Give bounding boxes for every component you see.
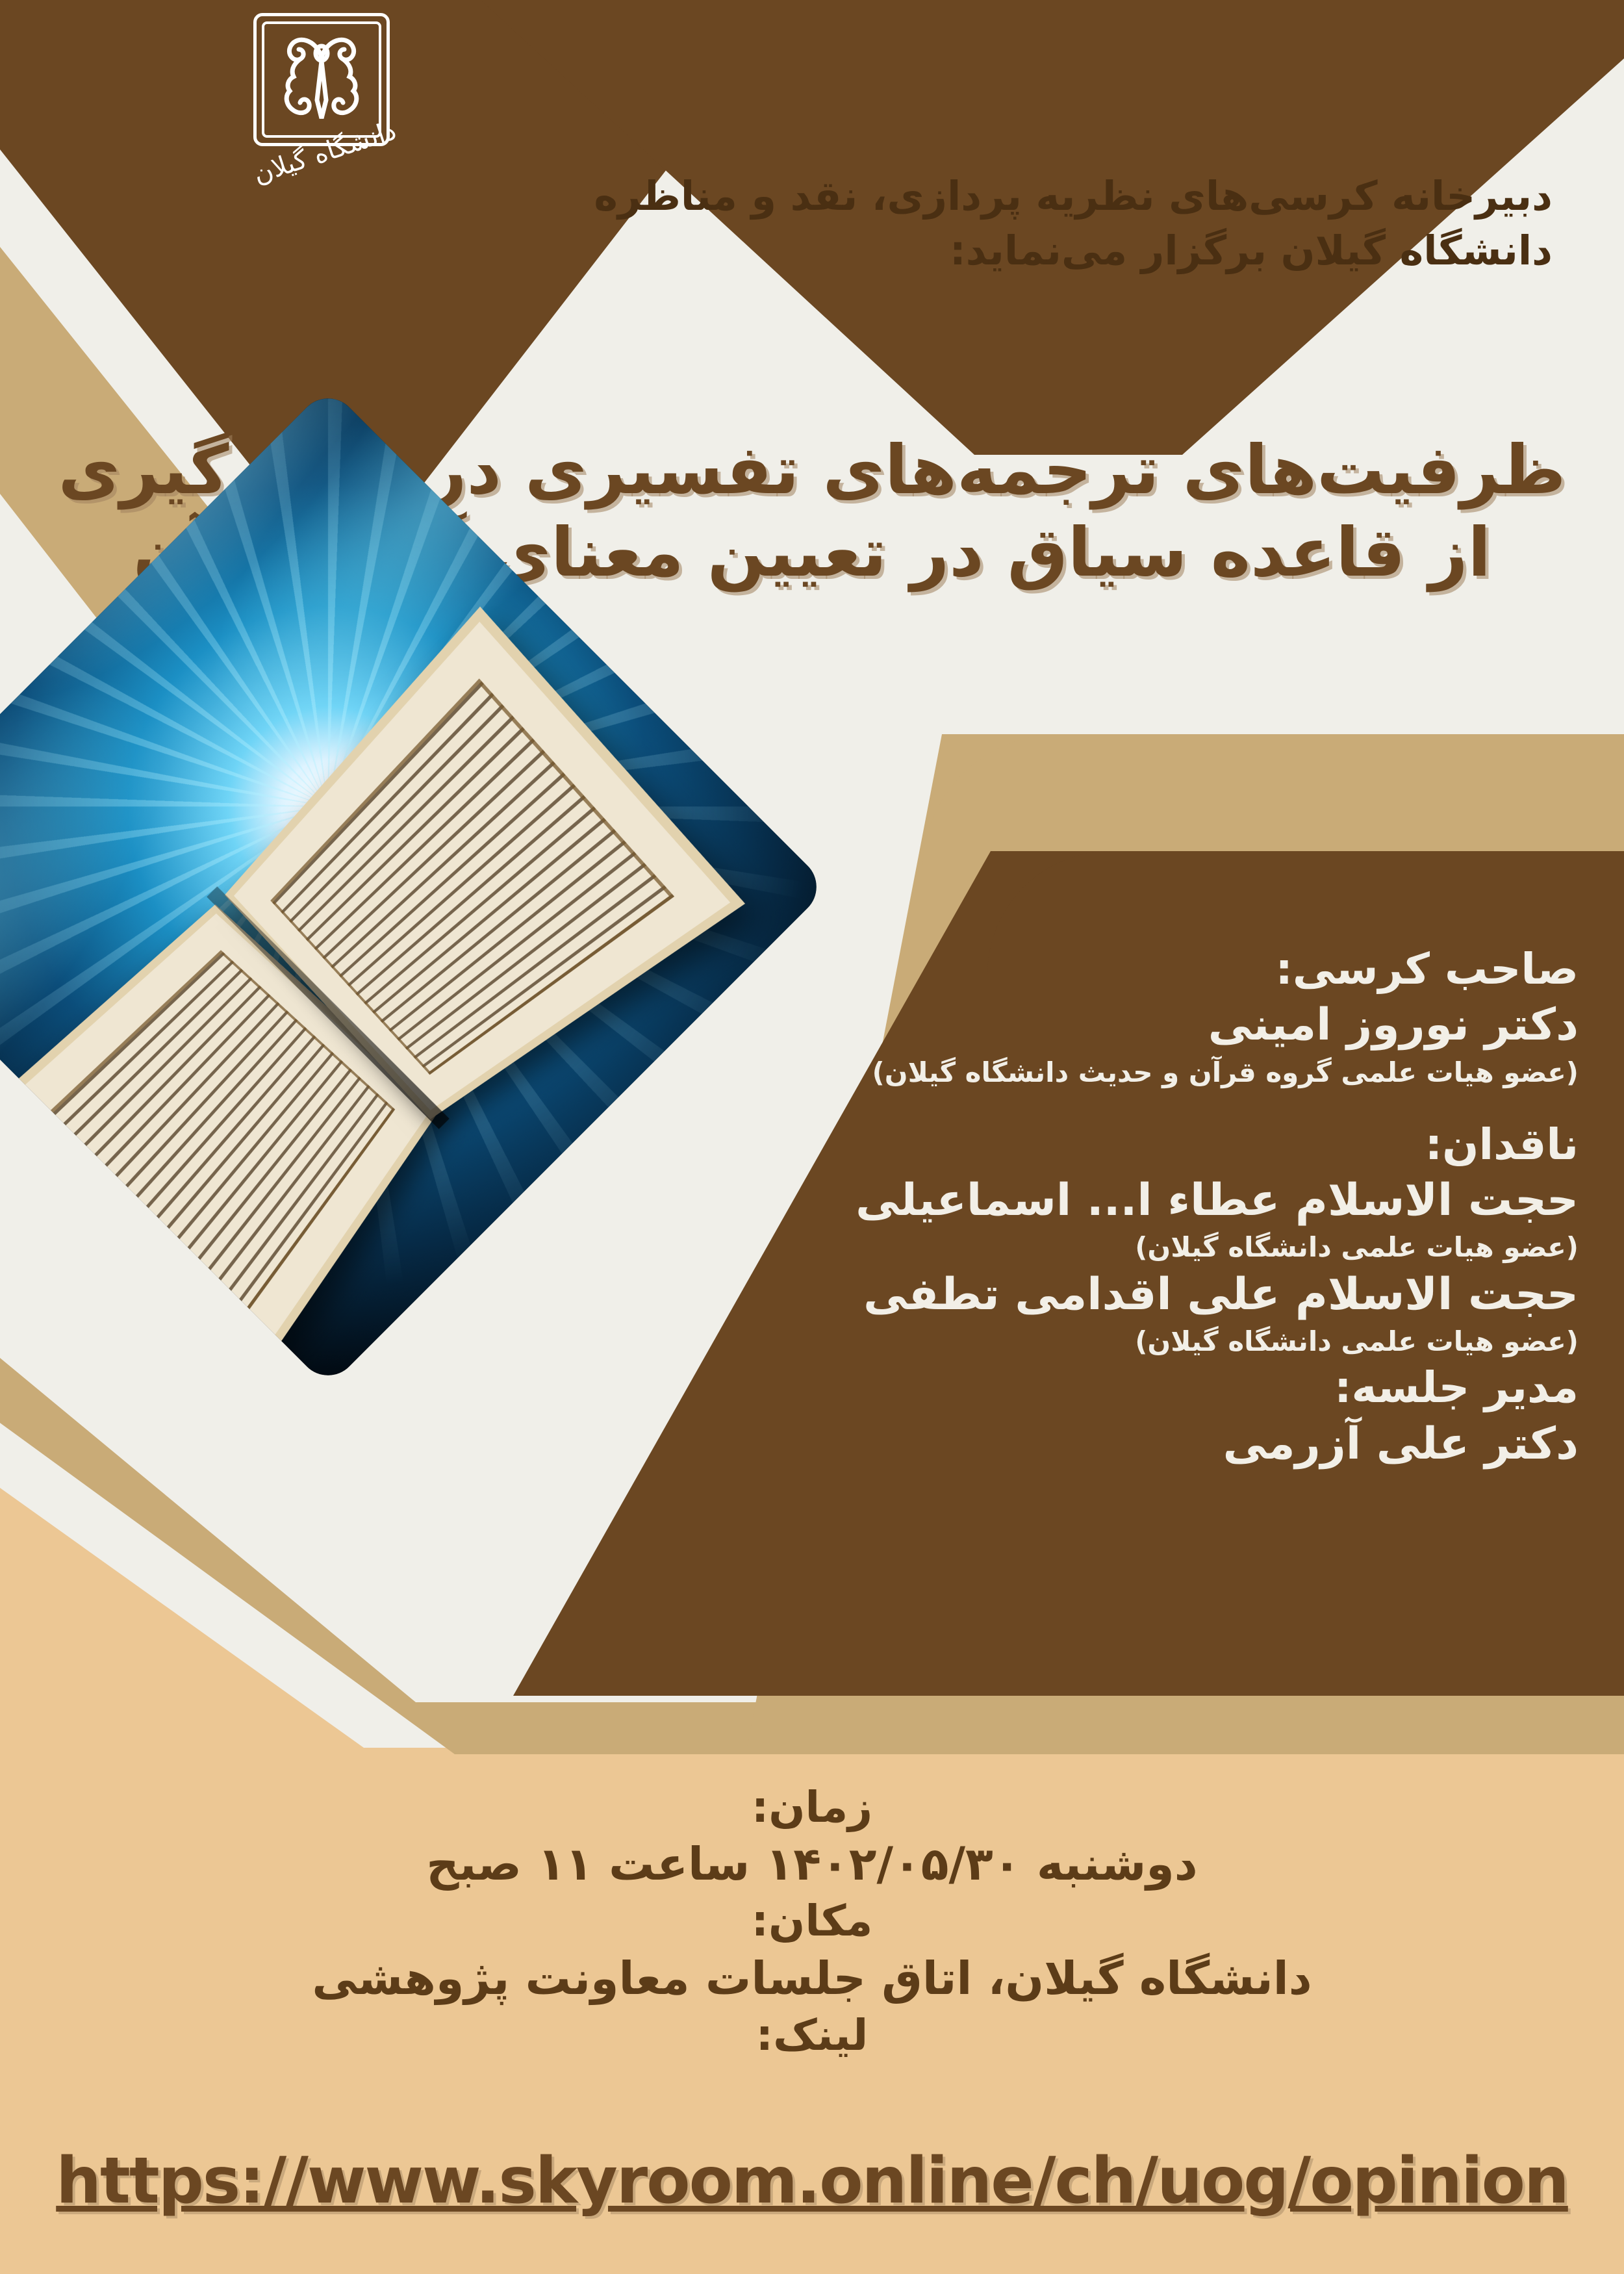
meeting-link[interactable]: https://www.skyroom.online/ch/uog/opinio… [0, 2144, 1624, 2218]
poster-header: دبیرخانه کرسی‌های نظریه پردازی، نقد و من… [539, 169, 1553, 277]
link-label: لینک: [0, 2008, 1624, 2063]
place-label: مکان: [0, 1894, 1624, 1948]
time-value: دوشنبه ۱۴۰۲/۰۵/۳۰ ساعت ۱۱ صبح [0, 1835, 1624, 1894]
critic-1-name: حجت الاسلام عطاء ا... اسماعیلی [682, 1172, 1579, 1229]
moderator-name: دکتر علی آزرمی [682, 1416, 1579, 1473]
speakers-section: صاحب کرسی: دکتر نوروز امینی (عضو هیات عل… [682, 942, 1579, 1473]
header-line-1: دبیرخانه کرسی‌های نظریه پردازی، نقد و من… [539, 169, 1553, 224]
critics-label: ناقدان: [682, 1118, 1579, 1172]
critic-1-affiliation: (عضو هیات علمی دانشگاه گیلان) [682, 1229, 1579, 1266]
place-value: دانشگاه گیلان، اتاق جلسات معاونت پژوهشی [0, 1949, 1624, 2008]
chair-affiliation: (عضو هیات علمی گروه قرآن و حدیث دانشگاه … [682, 1054, 1579, 1092]
critic-2-name: حجت الاسلام علی اقدامی تطفی [682, 1266, 1579, 1323]
gilan-emblem-icon [265, 23, 378, 135]
chair-label: صاحب کرسی: [682, 942, 1579, 997]
moderator-label: مدیر جلسه: [682, 1361, 1579, 1415]
university-logo: دانشگاه گیلان [253, 13, 403, 214]
chair-name: دکتر نوروز امینی [682, 997, 1579, 1054]
schedule-section: زمان: دوشنبه ۱۴۰۲/۰۵/۳۰ ساعت ۱۱ صبح مکان… [0, 1780, 1624, 2063]
header-line-2: دانشگاه گیلان برگزار می‌نماید: [539, 224, 1553, 278]
critic-2-affiliation: (عضو هیات علمی دانشگاه گیلان) [682, 1323, 1579, 1361]
time-label: زمان: [0, 1780, 1624, 1835]
event-poster: دانشگاه گیلان دبیرخانه کرسی‌های نظریه پر… [0, 0, 1624, 2274]
